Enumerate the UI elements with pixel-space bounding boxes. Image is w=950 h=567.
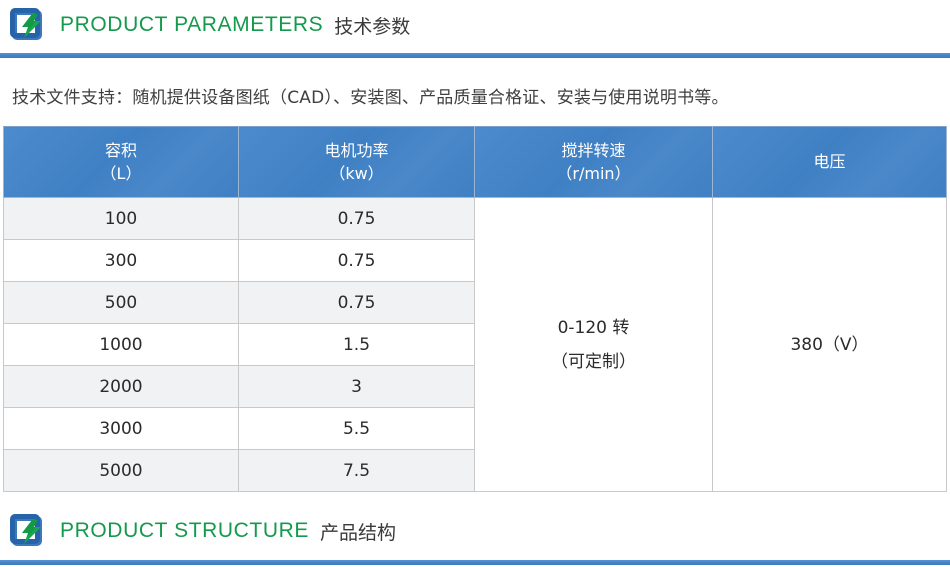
cell-volume: 3000 — [4, 408, 239, 450]
product-parameters-page: PRODUCT PARAMETERS 技术参数 技术文件支持：随机提供设备图纸（… — [0, 0, 950, 567]
column-header-line2: （kw） — [240, 162, 473, 185]
cell-volume: 5000 — [4, 450, 239, 492]
section-title-en: PRODUCT PARAMETERS — [60, 13, 323, 37]
column-header-line2: （r/min） — [476, 162, 711, 185]
technical-docs-note: 技术文件支持：随机提供设备图纸（CAD）、安装图、产品质量合格证、安装与使用说明… — [12, 83, 729, 108]
table-header-row: 容积 （L） 电机功率 （kw） 搅拌转速 （r/min） 电压 — [4, 127, 947, 198]
section-title-en: PRODUCT STRUCTURE — [60, 519, 309, 543]
section-title-cn: 技术参数 — [334, 12, 410, 39]
column-header-line2: （L） — [5, 162, 237, 185]
cell-volume: 1000 — [4, 324, 239, 366]
section-divider-rule — [0, 53, 950, 58]
column-header-stirring-speed: 搅拌转速 （r/min） — [475, 127, 713, 198]
cell-volume: 2000 — [4, 366, 239, 408]
column-header-line1: 电压 — [813, 152, 845, 171]
column-header-voltage: 电压 — [713, 127, 947, 198]
cell-power: 0.75 — [239, 240, 475, 282]
bolt-glyph-icon — [16, 517, 46, 547]
section-title-cn: 产品结构 — [320, 518, 396, 545]
logo-square-bolt-icon — [8, 6, 46, 44]
cell-stirring-speed-merged: 0-120 转 （可定制） — [475, 198, 713, 492]
column-header-motor-power: 电机功率 （kw） — [239, 127, 475, 198]
stirring-speed-note: （可定制） — [476, 345, 711, 379]
spec-table: 容积 （L） 电机功率 （kw） 搅拌转速 （r/min） 电压 — [3, 126, 947, 492]
cell-power: 5.5 — [239, 408, 475, 450]
logo-square-bolt-icon — [8, 512, 46, 550]
cell-power: 0.75 — [239, 282, 475, 324]
cell-volume: 100 — [4, 198, 239, 240]
section-heading-parameters: PRODUCT PARAMETERS 技术参数 — [0, 0, 950, 58]
cell-power: 3 — [239, 366, 475, 408]
spec-table-container: 容积 （L） 电机功率 （kw） 搅拌转速 （r/min） 电压 — [3, 126, 946, 492]
cell-volume: 300 — [4, 240, 239, 282]
column-header-line1: 容积 — [105, 141, 137, 160]
cell-power: 0.75 — [239, 198, 475, 240]
cell-power: 7.5 — [239, 450, 475, 492]
heading-row: PRODUCT STRUCTURE 产品结构 — [0, 506, 950, 556]
column-header-line1: 电机功率 — [324, 141, 388, 160]
cell-voltage-merged: 380（V） — [713, 198, 947, 492]
column-header-line1: 搅拌转速 — [561, 141, 625, 160]
bolt-glyph-icon — [16, 11, 46, 41]
table-row: 100 0.75 0-120 转 （可定制） 380（V） — [4, 198, 947, 240]
cell-volume: 500 — [4, 282, 239, 324]
section-divider-rule — [0, 560, 950, 565]
heading-row: PRODUCT PARAMETERS 技术参数 — [0, 0, 950, 50]
section-heading-structure: PRODUCT STRUCTURE 产品结构 — [0, 506, 950, 564]
column-header-volume: 容积 （L） — [4, 127, 239, 198]
stirring-speed-value: 0-120 转 — [476, 311, 711, 345]
cell-power: 1.5 — [239, 324, 475, 366]
